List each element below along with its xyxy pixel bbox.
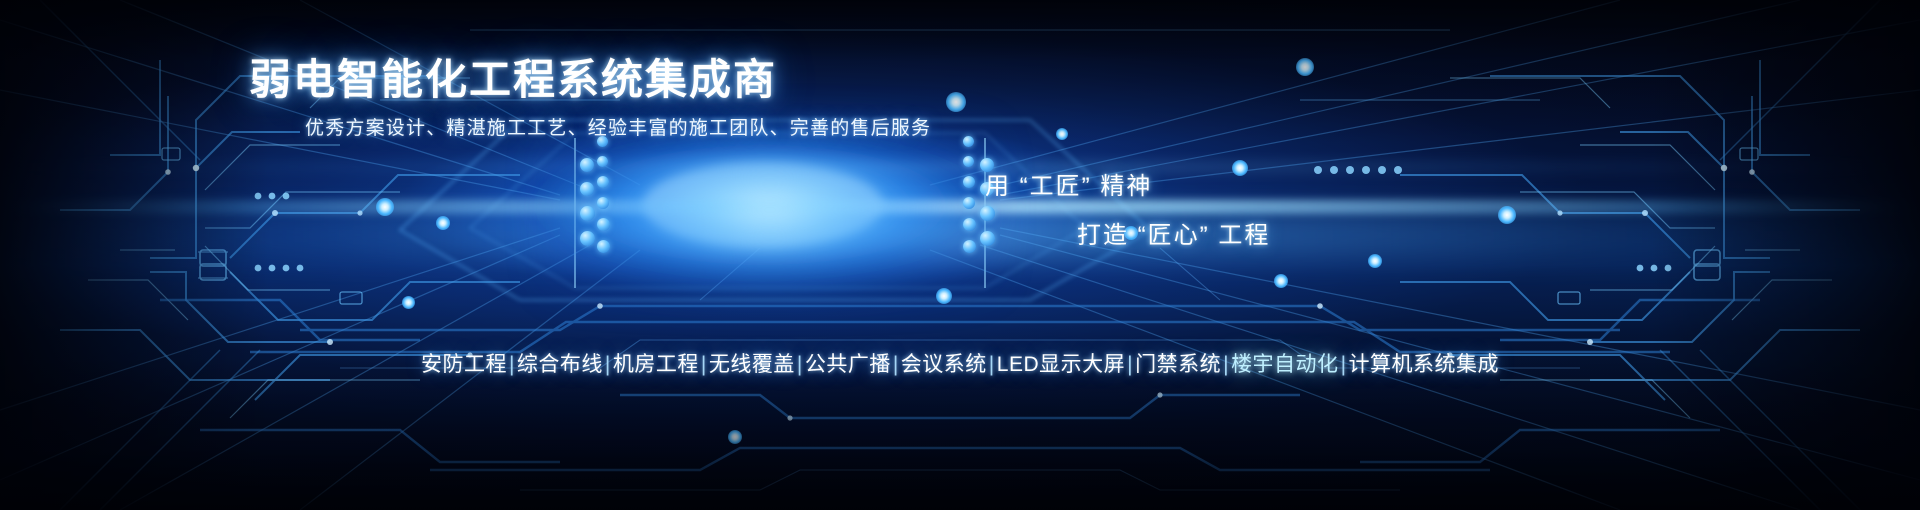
hero-banner: 弱电智能化工程系统集成商 优秀方案设计、精湛施工工艺、经验丰富的施工团队、完善的… [0, 0, 1920, 510]
page-subtitle: 优秀方案设计、精湛施工工艺、经验丰富的施工团队、完善的售后服务 [305, 113, 931, 140]
spark-light [1498, 206, 1516, 224]
spark-light [402, 296, 415, 309]
service-item[interactable]: 公共广播 [805, 353, 891, 376]
service-separator: | [989, 353, 995, 376]
service-separator: | [797, 353, 803, 376]
spark-light [1056, 128, 1068, 140]
service-separator: | [893, 353, 899, 376]
light-sweep-core [0, 200, 1920, 214]
service-list: 安防工程|综合布线|机房工程|无线覆盖|公共广播|会议系统|LED显示大屏|门禁… [0, 348, 1920, 378]
spark-light [1296, 58, 1314, 76]
service-item[interactable]: 机房工程 [613, 353, 699, 376]
slogan-line-2: 打造 “匠心” 工程 [1077, 215, 1270, 250]
spark-light [936, 288, 952, 304]
service-item[interactable]: 会议系统 [901, 353, 987, 376]
service-item[interactable]: 无线覆盖 [709, 353, 795, 376]
service-separator: | [1341, 353, 1347, 376]
service-item[interactable]: 计算机系统集成 [1349, 353, 1500, 376]
spark-light [1368, 254, 1382, 268]
spark-light [436, 216, 450, 230]
service-item[interactable]: 综合布线 [517, 353, 603, 376]
service-item[interactable]: 安防工程 [421, 353, 507, 376]
service-separator: | [509, 353, 515, 376]
light-sweep-upper [0, 162, 1920, 172]
service-separator: | [1127, 353, 1133, 376]
slogan-line-1: 用 “工匠” 精神 [985, 166, 1270, 201]
spark-light [1274, 274, 1288, 288]
light-sweep-lower [0, 212, 1920, 258]
page-title: 弱电智能化工程系统集成商 [249, 46, 777, 107]
service-separator: | [701, 353, 707, 376]
service-separator: | [1223, 353, 1229, 376]
slogan-block: 用 “工匠” 精神 打造 “匠心” 工程 [985, 166, 1270, 250]
service-item[interactable]: 楼宇自动化 [1231, 353, 1339, 376]
led-dot-column-right [963, 136, 976, 253]
spark-light [376, 198, 394, 216]
service-item[interactable]: 门禁系统 [1135, 353, 1221, 376]
spark-light [728, 430, 742, 444]
led-dot-column-left [597, 136, 610, 253]
spark-light [946, 92, 966, 112]
service-item[interactable]: LED显示大屏 [997, 353, 1125, 376]
led-dot-column-left-inner [580, 158, 595, 246]
service-separator: | [605, 353, 611, 376]
center-core-glow [540, 120, 1000, 300]
